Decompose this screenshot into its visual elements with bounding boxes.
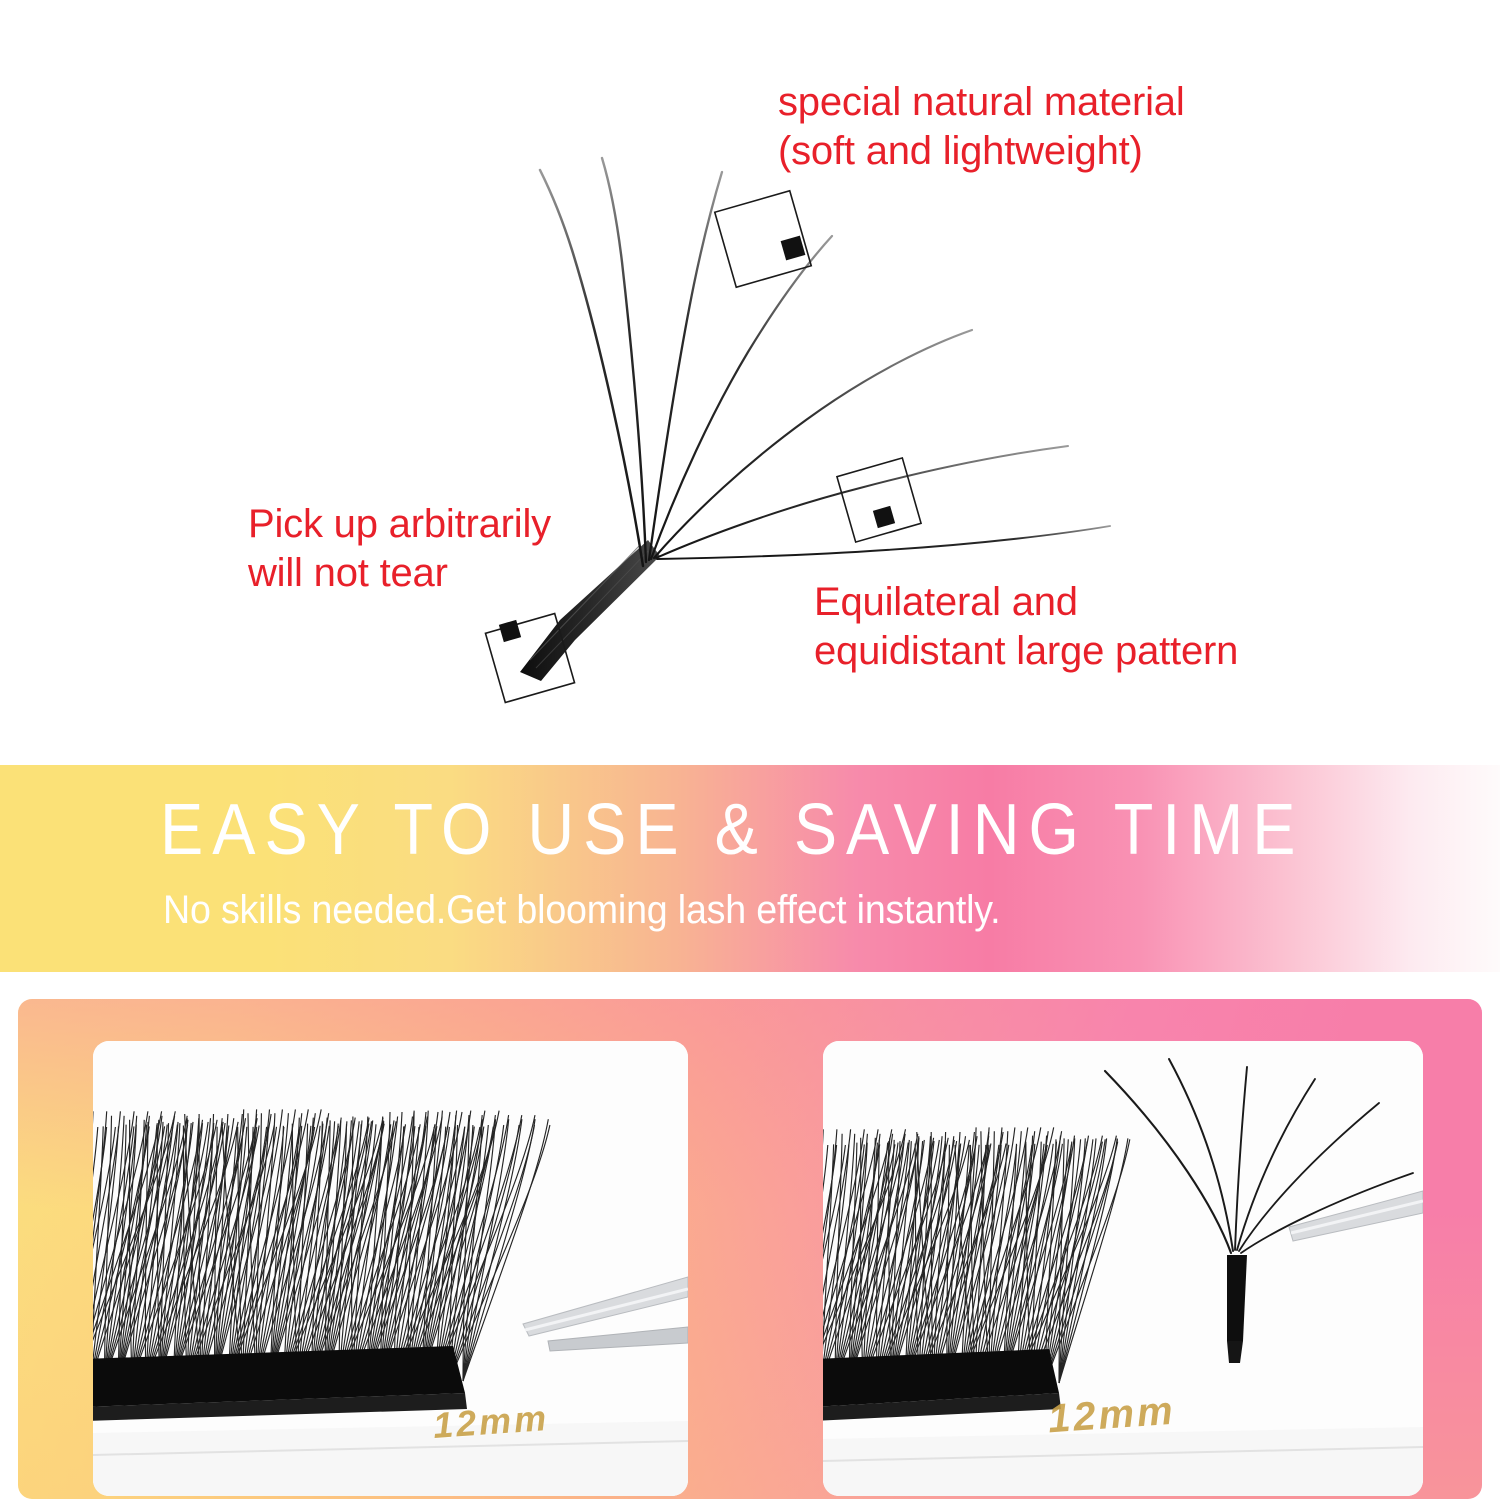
- easy-to-use-banner: EASY TO USE & SAVING TIME No skills need…: [0, 765, 1500, 972]
- callout-special-natural-material: special natural material (soft and light…: [778, 78, 1185, 176]
- lash-tray-photo-graphic: [93, 1041, 688, 1496]
- photo-lash-fan-lifted[interactable]: 12mm: [823, 1041, 1423, 1496]
- square-marker-right: [837, 458, 921, 542]
- photo-lash-tray-with-tweezers[interactable]: 12mm: [93, 1041, 688, 1496]
- callout-equilateral-equidistant: Equilateral and equidistant large patter…: [814, 578, 1238, 676]
- square-marker-top: [715, 191, 811, 287]
- lash-strands: [540, 158, 1110, 566]
- callout-pick-up-arbitrarily: Pick up arbitrarily will not tear: [248, 500, 551, 598]
- lash-fan-diagram-section: special natural material (soft and light…: [0, 0, 1500, 765]
- lash-fan-illustration: [0, 0, 1500, 765]
- photo-gallery-frame: 12mm: [18, 999, 1482, 1499]
- banner-headline: EASY TO USE & SAVING TIME: [160, 791, 1305, 870]
- banner-subheadline: No skills needed.Get blooming lash effec…: [163, 888, 1000, 933]
- tray-size-label-right: 12mm: [1047, 1389, 1177, 1443]
- tray-size-label-left: 12mm: [432, 1397, 551, 1447]
